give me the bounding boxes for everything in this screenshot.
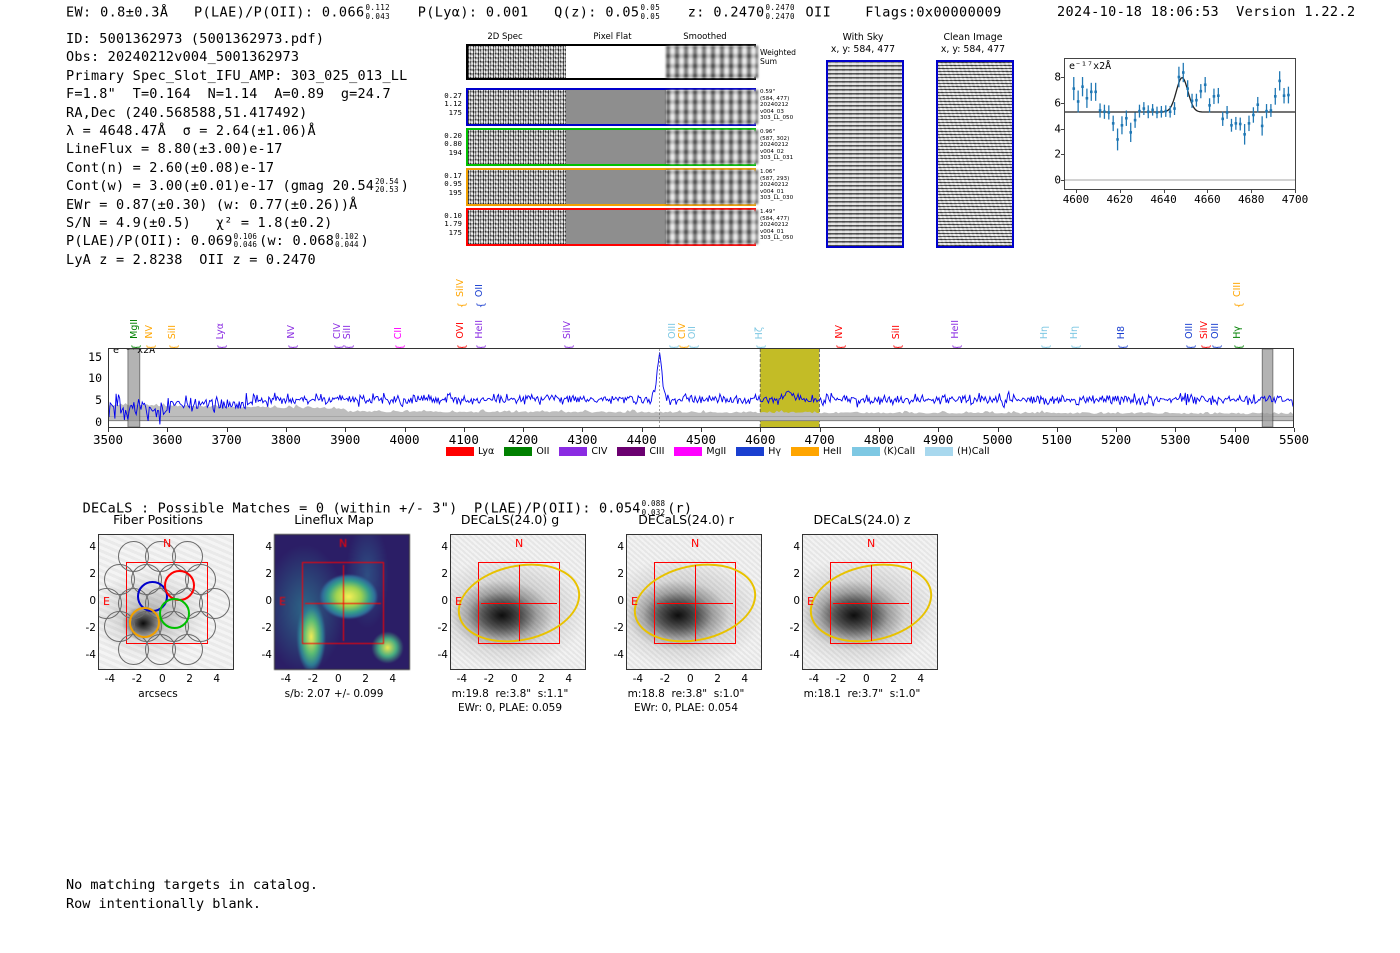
line-fit-ytick: 2 [1054,148,1061,161]
with-sky-title: With Sky [820,32,906,43]
fiber-highlight [164,570,195,601]
line-fit-ytick: 6 [1054,96,1061,109]
panel-xtick: 0 [159,673,166,685]
panel-xtick: 2 [714,673,721,685]
line-fit-canvas [1065,59,1295,189]
panel-xtick: -4 [809,673,819,685]
z-label: z: [688,5,705,21]
panel-ytick: 4 [608,541,624,553]
header-timestamp-version: 2024-10-18 18:06:53 Version 1.22.2 [1057,4,1355,20]
line-fit-xtick: 4600 [1063,193,1090,206]
panel-ytick: 4 [784,541,800,553]
legend-swatch [446,447,474,456]
panel-xtick: -4 [633,673,643,685]
emission-line-label: NV [145,325,155,339]
emission-line-label: Hη [1070,326,1080,339]
fiber-row-4-metrics: 0.10 1.79 175 [422,212,462,237]
image-panel-3: DECaLS(24.0) rNE-4-4-2-2002244m:18.8 re:… [596,512,776,727]
with-sky-image [826,60,904,248]
spectrum-xtick: 4900 [923,432,953,447]
spectrum-xtick: 5000 [982,432,1012,447]
line-fit-xtick: 4680 [1238,193,1265,206]
qz-value: 0.05 [605,5,639,21]
fiber-row-3-metrics: 0.17 0.95 195 [422,172,462,197]
fiber-row-2-metrics: 0.20 0.80 194 [422,132,462,157]
panel-xtick: 4 [565,673,572,685]
info-line-snr: S/N = 4.9(±0.5) χ² = 1.8(±0.2) [66,214,409,232]
legend-label: Hγ [768,446,781,457]
col-title-2dspec: 2D Spec [450,32,560,42]
crosshair-center [334,594,352,612]
panel-xtick: 2 [362,673,369,685]
fiber-row-1-info: 0.59" (584, 477) 20240212 v004_03 303_LL… [760,89,793,122]
weighted-sum-row [466,44,756,80]
legend-label: CIII [649,446,664,457]
panel-caption: m:18.8 re:3.8" s:1.0" [596,688,776,701]
panel-title: DECaLS(24.0) r [596,512,776,527]
panel-xtick: -2 [484,673,494,685]
plae-label: P(LAE)/P(OII): [194,5,313,21]
spectrum-xtick-mark [938,428,939,432]
image-panel-4: DECaLS(24.0) zNE-4-4-2-2002244m:18.1 re:… [772,512,952,727]
line-fit-ytick-mark [1061,154,1065,155]
legend-label: (H)CalI [957,446,989,457]
info-line-ewr: EWr = 0.87(±0.30) (w: 0.77(±0.26))Å [66,196,409,214]
legend-swatch [617,447,645,456]
compass-north: N [339,537,347,550]
legend-swatch [504,447,532,456]
spectrum-xtick-mark [760,428,761,432]
emission-line-label: Hζ [755,327,765,339]
image-panel-1: Lineflux MapNE-4-4-2-2002244s/b: 2.07 +/… [244,512,424,727]
full-spectrum-axes: e⁻¹⁷x2Å [108,348,1294,428]
spectrum-ytick: 5 [78,393,102,407]
col-title-pixelflat: Pixel Flat [560,32,665,42]
line-fit-xtick-mark [1076,189,1077,193]
image-panel-0: Fiber PositionsNE-4-4-2-2002244arcsecs [68,512,248,727]
panel-xlabel: arcsecs [68,688,248,701]
legend-label: Lyα [478,446,494,457]
spectrum-xtick-mark [1235,428,1236,432]
full-spectrum-plot: e⁻¹⁷x2Å [108,348,1294,428]
legend-item: (K)CalI [852,446,916,457]
compass-north: N [867,537,875,550]
info-line-slot: Primary Spec_Slot_IFU_AMP: 303_025_013_L… [66,67,409,85]
panel-xtick: 0 [863,673,870,685]
emission-line-label: CII [394,327,404,339]
emission-line-label: SiIV [456,279,466,297]
flags-label: Flags:0x00000009 [865,5,1001,21]
panel-ytick: 0 [432,595,448,607]
panel-ytick: -2 [608,622,624,634]
spectrum-xtick-mark [582,428,583,432]
spectrum-xtick: 3500 [93,432,123,447]
spectrum-xtick: 4100 [449,432,479,447]
panel-caption-secondary: EWr: 0, PLAE: 0.054 [596,702,776,715]
panel-ytick: -4 [80,649,96,661]
fiber-row-4 [466,208,756,246]
emission-line-label: Lyα [216,323,226,339]
legend-item: MgII [674,446,726,457]
spectrum-xtick: 4400 [627,432,657,447]
panel-xtick: -2 [132,673,142,685]
spectrum-xtick-mark [1294,428,1295,432]
info-plae-errors: 0.1060.046 [234,233,258,250]
info-line-cont-w: Cont(w) = 3.00(±0.01)e-17 (gmag 20.5420.… [66,177,409,195]
panel-image: NE [626,534,762,670]
panel-title: Fiber Positions [68,512,248,527]
info-line-lambda: λ = 4648.47Å σ = 2.64(±1.06)Å [66,122,409,140]
info-line-params: F=1.8" T=0.164 N=1.14 A=0.89 g=24.7 [66,85,409,103]
spectrum-xtick-mark [1057,428,1058,432]
emission-line-brace: { [476,302,487,308]
line-fit-xtick: 4700 [1282,193,1309,206]
panel-xtick: -4 [281,673,291,685]
panel-ytick: 2 [784,568,800,580]
z-value: 0.2470 [713,5,764,21]
spectrum-xtick: 4200 [508,432,538,447]
spectrum-xtick: 4500 [686,432,716,447]
emission-line-label: NV [287,325,297,339]
legend-swatch [791,447,819,456]
ew-label: EW: [66,5,92,21]
line-fit-axes: e⁻¹⁷x2Å 02468460046204640466046804700 [1064,58,1296,190]
panel-ytick: -2 [256,622,272,634]
legend-item: CIII [617,446,664,457]
line-fit-xtick: 4620 [1107,193,1134,206]
line-fit-ytick: 4 [1054,122,1061,135]
col-title-smoothed: Smoothed [655,32,755,42]
spectrum-xtick: 4600 [745,432,775,447]
emission-line-label: H8 [1117,326,1127,339]
clean-image-pixels [936,60,1014,248]
panel-ytick: 2 [432,568,448,580]
panel-xtick: 2 [890,673,897,685]
line-fit-ytick-mark [1061,180,1065,181]
line-fit-xtick-mark [1295,189,1296,193]
line-fit-ytick-mark [1061,129,1065,130]
line-fit-xtick: 4660 [1194,193,1221,206]
panel-ytick: 0 [80,595,96,607]
info-line-obs: Obs: 20240212v004_5001362973 [66,48,409,66]
line-fit-xtick-mark [1164,189,1165,193]
info-line-id: ID: 5001362973 (5001362973.pdf) [66,30,409,48]
emission-line-label: OIII [1211,323,1221,339]
fiber-row-1-metrics: 0.27 1.12 175 [422,92,462,117]
line-fit-plot: e⁻¹⁷x2Å 02468460046204640466046804700 [1036,52,1298,220]
legend-item: OII [504,446,549,457]
spectrum-xtick: 5300 [1160,432,1190,447]
spectrum-xtick-mark [820,428,821,432]
line-fit-xtick: 4640 [1150,193,1177,206]
spectrum-xtick-mark [998,428,999,432]
info-line-radec: RA,Dec (240.568588,51.417492) [66,104,409,122]
panel-ytick: 4 [80,541,96,553]
crosshair-center [686,594,704,612]
panel-xtick: -2 [836,673,846,685]
panel-caption: m:18.1 re:3.7" s:1.0" [772,688,952,701]
fiber-highlight [129,607,160,638]
crosshair-center [862,594,880,612]
panel-caption: s/b: 2.07 +/- 0.099 [244,688,424,701]
panel-ytick: 0 [608,595,624,607]
weighted-sum-label: Weighted Sum [760,48,796,66]
2d-spec-panel: 2D Spec Pixel Flat Smoothed Weighted Sum… [440,32,770,262]
panel-title: DECaLS(24.0) z [772,512,952,527]
emission-line-label: OII [475,284,485,297]
line-fit-ytick-mark [1061,103,1065,104]
spectrum-xtick-mark [108,428,109,432]
compass-north: N [691,537,699,550]
panel-ytick: 0 [784,595,800,607]
spectrum-xtick: 5500 [1279,432,1309,447]
panel-ytick: -4 [432,649,448,661]
fiber-row-2 [466,128,756,166]
panel-xtick: 0 [511,673,518,685]
emission-line-brace: { [1234,302,1245,308]
legend-label: MgII [706,446,726,457]
info-plae-w-errors: 0.1020.044 [335,233,359,250]
emission-line-label: OIII [1185,323,1195,339]
panel-title: Lineflux Map [244,512,424,527]
panel-xtick: 2 [186,673,193,685]
legend-label: CIV [591,446,607,457]
emission-line-brace: { [457,302,468,308]
info-line-lineflux: LineFlux = 8.80(±3.00)e-17 [66,140,409,158]
timestamp: 2024-10-18 18:06:53 [1057,4,1219,20]
spectrum-xtick-mark [345,428,346,432]
emission-line-label: SiIV [1200,321,1210,339]
full-spectrum-unit-label: e⁻¹⁷x2Å [113,348,155,356]
panel-xtick: 2 [538,673,545,685]
legend-item: CIV [559,446,607,457]
spectrum-xtick: 5100 [1042,432,1072,447]
emission-line-label: HeII [951,320,961,339]
spectrum-xtick: 3600 [152,432,182,447]
panel-ytick: -4 [256,649,272,661]
legend-item: Lyα [446,446,494,457]
emission-line-label: NV [835,325,845,339]
emission-line-legend: LyαOIICIVCIIIMgIIHγHeII(K)CalI(H)CalI [446,446,990,457]
panel-image: NE [450,534,586,670]
legend-item: Hγ [736,446,781,457]
panel-xtick: 4 [389,673,396,685]
plae-errors: 0.1120.043 [366,4,391,21]
panel-ytick: -2 [432,622,448,634]
emission-line-label: SiIV [563,321,573,339]
legend-label: HeII [823,446,842,457]
panel-xtick: 4 [213,673,220,685]
emission-line-label: OVI [456,322,466,339]
panel-image: NE [802,534,938,670]
plya-value: 0.001 [486,5,529,21]
z-type: OII [806,5,832,21]
qz-label: Q(z): [554,5,597,21]
panel-ytick: 2 [256,568,272,580]
qz-errors: 0.050.05 [640,4,660,21]
emission-line-label: Hη [1040,326,1050,339]
emission-line-label: SiII [343,325,353,339]
spectrum-xtick: 4000 [389,432,419,447]
crosshair-center [510,594,528,612]
ew-value: 0.8±0.3Å [100,5,168,21]
panel-xtick: 4 [917,673,924,685]
panel-xtick: -4 [105,673,115,685]
z-errors: 0.24700.2470 [765,4,795,21]
version-label: Version 1.22.2 [1236,4,1355,20]
image-panel-2: DECaLS(24.0) gNE-4-4-2-2002244m:19.8 re:… [420,512,600,727]
clean-image-title: Clean Image [925,32,1021,43]
fiber-row-2-info: 0.96" (587, 302) 20240212 v004_02 303_LL… [760,129,793,162]
info-line-plae: P(LAE)/P(OII): 0.0690.1060.046(w: 0.0680… [66,232,409,250]
spectrum-xtick: 3900 [330,432,360,447]
legend-swatch [559,447,587,456]
fiber-row-4-info: 1.49" (584, 477) 20240212 v004_01 303_LL… [760,209,793,242]
compass-east: E [631,595,638,608]
legend-swatch [674,447,702,456]
spectrum-xtick: 5400 [1220,432,1250,447]
legend-label: OII [536,446,549,457]
compass-east: E [807,595,814,608]
compass-east: E [103,595,110,608]
panel-ytick: 0 [256,595,272,607]
panel-ytick: -4 [784,649,800,661]
panel-xtick: -2 [660,673,670,685]
emission-line-label: SiII [168,325,178,339]
panel-title: DECaLS(24.0) g [420,512,600,527]
emission-line-label: CIII [1233,282,1243,297]
spectrum-ytick: 0 [78,415,102,429]
legend-swatch [925,447,953,456]
gmag-errors: 20.5420.53 [375,178,399,195]
panel-ytick: -2 [80,622,96,634]
spectrum-xtick-mark [167,428,168,432]
fiber-row-3 [466,168,756,206]
spectrum-xtick-mark [405,428,406,432]
fiber-circle [172,634,203,665]
clean-image-coords: x, y: 584, 477 [925,44,1021,55]
compass-east: E [455,595,462,608]
panel-xtick: -4 [457,673,467,685]
spectrum-xtick: 3800 [271,432,301,447]
emission-line-label: MgII [130,319,140,339]
spectrum-xtick: 4300 [567,432,597,447]
line-fit-xtick-mark [1120,189,1121,193]
compass-east: E [279,595,286,608]
panel-xtick: -2 [308,673,318,685]
compass-north: N [163,537,171,550]
spectrum-xtick-mark [1175,428,1176,432]
line-fit-xtick-mark [1207,189,1208,193]
panel-ytick: -4 [608,649,624,661]
spectrum-ytick: 15 [78,350,102,364]
spectrum-xtick: 4700 [805,432,835,447]
info-line-redshifts: LyA z = 2.8238 OII z = 0.2470 [66,251,409,269]
spectrum-xtick-mark [879,428,880,432]
emission-line-labels: MgII{NV{SiII{Lyα{NV{CIV{SiII{CII{OVI{HeI… [108,276,1294,348]
header-summary-line: EW: 0.8±0.3Å P(LAE)/P(OII): 0.0660.1120.… [66,4,1002,21]
legend-swatch [852,447,880,456]
plae-value: 0.066 [322,5,365,21]
legend-label: (K)CalI [884,446,916,457]
emission-line-label: Hγ [1233,326,1243,339]
spectrum-xtick: 4800 [864,432,894,447]
panel-ytick: 2 [80,568,96,580]
spectrum-xtick-mark [523,428,524,432]
emission-line-label: HeII [475,320,485,339]
line-fit-ytick: 8 [1054,71,1061,84]
fiber-highlight [159,598,190,629]
fiber-row-3-info: 1.06" (587, 293) 20240212 v004_01 303_LL… [760,169,793,202]
compass-north: N [515,537,523,550]
fiber-row-1 [466,88,756,126]
detection-info-block: ID: 5001362973 (5001362973.pdf) Obs: 202… [66,30,409,269]
spectrum-xtick: 5200 [1101,432,1131,447]
panel-ytick: 2 [608,568,624,580]
spectrum-xtick-mark [227,428,228,432]
panel-caption-secondary: EWr: 0, PLAE: 0.059 [420,702,600,715]
panel-xtick: 4 [741,673,748,685]
emission-line-label: OIII [668,323,678,339]
legend-item: HeII [791,446,842,457]
legend-item: (H)CalI [925,446,989,457]
panel-ytick: 4 [256,541,272,553]
line-fit-xtick-mark [1251,189,1252,193]
info-line-cont-n: Cont(n) = 2.60(±0.08)e-17 [66,159,409,177]
line-fit-ytick-mark [1061,77,1065,78]
spectrum-xtick-mark [286,428,287,432]
spectrum-xtick-mark [464,428,465,432]
spectrum-xtick: 3700 [212,432,242,447]
panel-xtick: 0 [335,673,342,685]
panel-ytick: -2 [784,622,800,634]
legend-swatch [736,447,764,456]
spectrum-xtick-mark [1116,428,1117,432]
emission-line-label: SiII [892,325,902,339]
spectrum-xtick-mark [642,428,643,432]
with-sky-coords: x, y: 584, 477 [820,44,906,55]
full-spectrum-canvas [109,349,1293,427]
plya-label: P(Lyα): [418,5,478,21]
spectrum-ytick: 10 [78,371,102,385]
panel-image: NE [98,534,234,670]
spectrum-xtick-mark [701,428,702,432]
panel-image: NE [274,534,410,670]
footer-note: No matching targets in catalog. Row inte… [66,876,318,913]
panel-caption: m:19.8 re:3.8" s:1.1" [420,688,600,701]
panel-ytick: 4 [432,541,448,553]
emission-line-label: OII [688,326,698,339]
line-fit-ytick: 0 [1054,173,1061,186]
panel-xtick: 0 [687,673,694,685]
